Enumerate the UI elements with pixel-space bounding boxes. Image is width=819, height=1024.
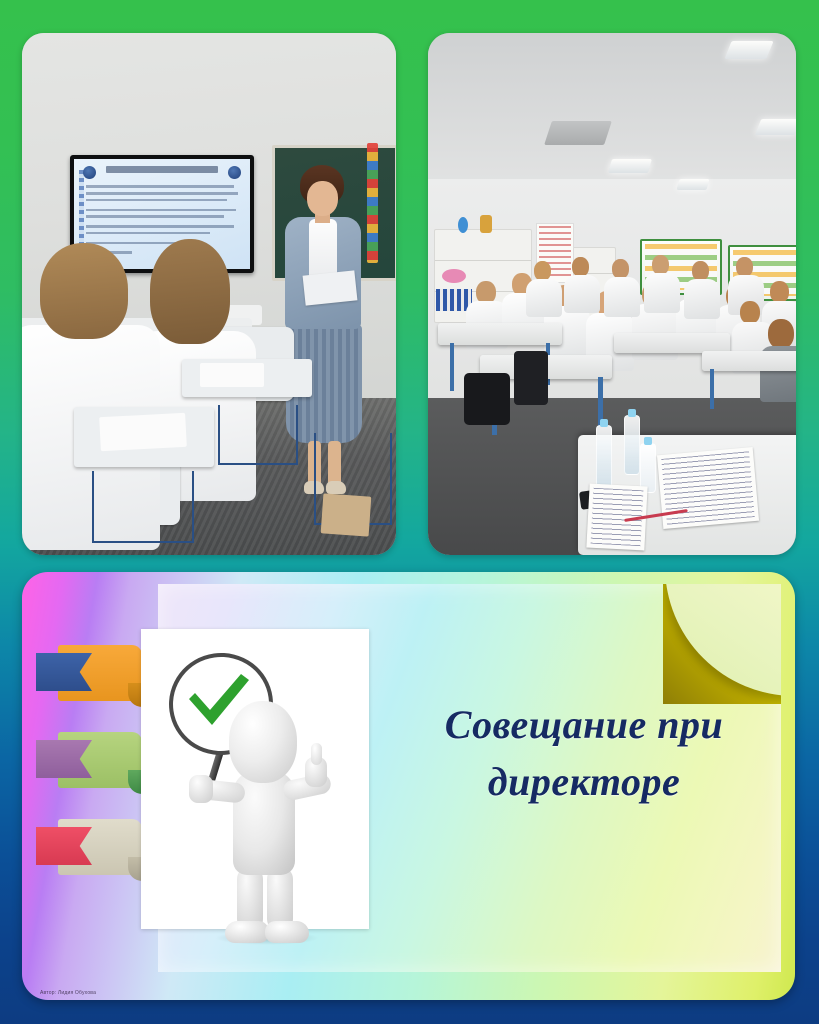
ceiling-light [676, 179, 709, 190]
papers [99, 413, 187, 451]
desk [438, 323, 562, 345]
slide-title-line-2: директоре [404, 754, 764, 811]
handout-paper [303, 270, 358, 305]
ceiling-light [724, 41, 773, 59]
desk-leg [710, 369, 714, 409]
thumbs-up-icon [311, 743, 322, 765]
ceiling-light [755, 119, 796, 135]
shelf-object [480, 215, 492, 233]
water-bottle [624, 415, 640, 475]
classroom-audience-photo [428, 33, 796, 555]
box [321, 493, 372, 536]
water-bottle [596, 425, 612, 489]
slide-title: Совещание при директоре [404, 697, 764, 811]
globe-model [458, 217, 468, 233]
bag [514, 351, 548, 405]
classroom-presentation-photo [22, 33, 396, 555]
papers [200, 363, 264, 387]
desk-leg [450, 343, 454, 391]
credit-watermark: Автор: Лидия Обухова [40, 990, 96, 996]
desk [702, 351, 796, 371]
approval-figure-clipart [141, 629, 369, 929]
slide-title-line-1: Совещание при [404, 697, 764, 754]
desk [614, 333, 730, 353]
poster-canvas: Совещание при директоре Автор: Лидия Обу… [0, 0, 819, 1024]
shelf-object [442, 269, 466, 283]
bag [464, 373, 510, 425]
page-curl-icon [663, 584, 781, 704]
desk-frame [218, 405, 298, 465]
ceiling-light [608, 159, 652, 173]
document-sheet [657, 447, 759, 529]
desk-frame [92, 471, 194, 543]
ceiling-vent [544, 121, 612, 145]
